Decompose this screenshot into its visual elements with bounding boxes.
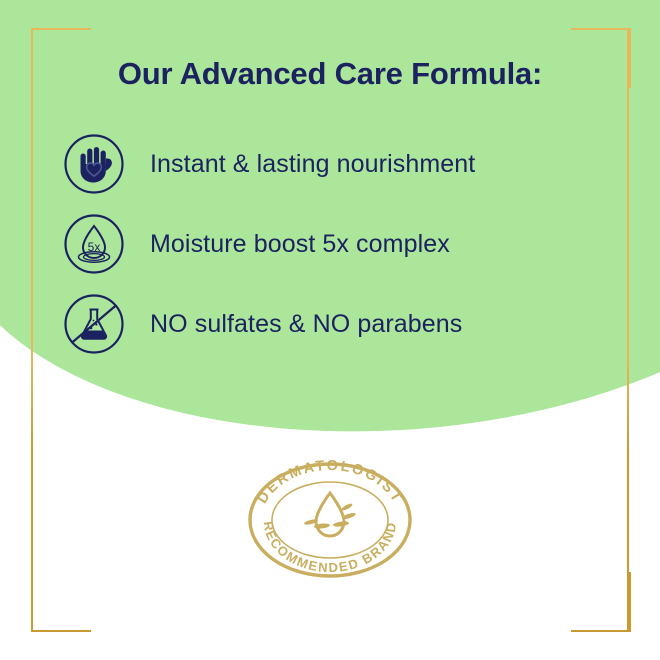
water-drop-5x-icon: 5x: [63, 213, 125, 275]
promo-card: Our Advanced Care Formula:: [0, 0, 660, 660]
frame-corner-bottom-right: [571, 572, 631, 632]
list-item: NO sulfates & NO parabens: [63, 284, 603, 364]
list-item-label: Moisture boost 5x complex: [150, 230, 450, 259]
water-drop-icon: [304, 493, 357, 536]
drop-multiplier-text: 5x: [88, 240, 101, 254]
hand-heart-icon: [63, 133, 125, 195]
list-item: Instant & lasting nourishment: [63, 124, 603, 204]
frame-corner-bottom-left: [31, 572, 91, 632]
list-item: 5x Moisture boost 5x complex: [63, 204, 603, 284]
page-title: Our Advanced Care Formula:: [0, 56, 660, 92]
list-item-label: NO sulfates & NO parabens: [150, 310, 462, 339]
badge-top-text: DERMATOLOGIST: [255, 460, 406, 507]
badge-bottom-text: RECOMMENDED BRAND: [261, 520, 400, 575]
feature-list: Instant & lasting nourishment 5x Moistur…: [63, 124, 603, 364]
dermatologist-recommended-badge: DERMATOLOGIST RECOMMENDED BRAND: [245, 460, 415, 580]
no-flask-icon: [63, 293, 125, 355]
list-item-label: Instant & lasting nourishment: [150, 150, 475, 179]
